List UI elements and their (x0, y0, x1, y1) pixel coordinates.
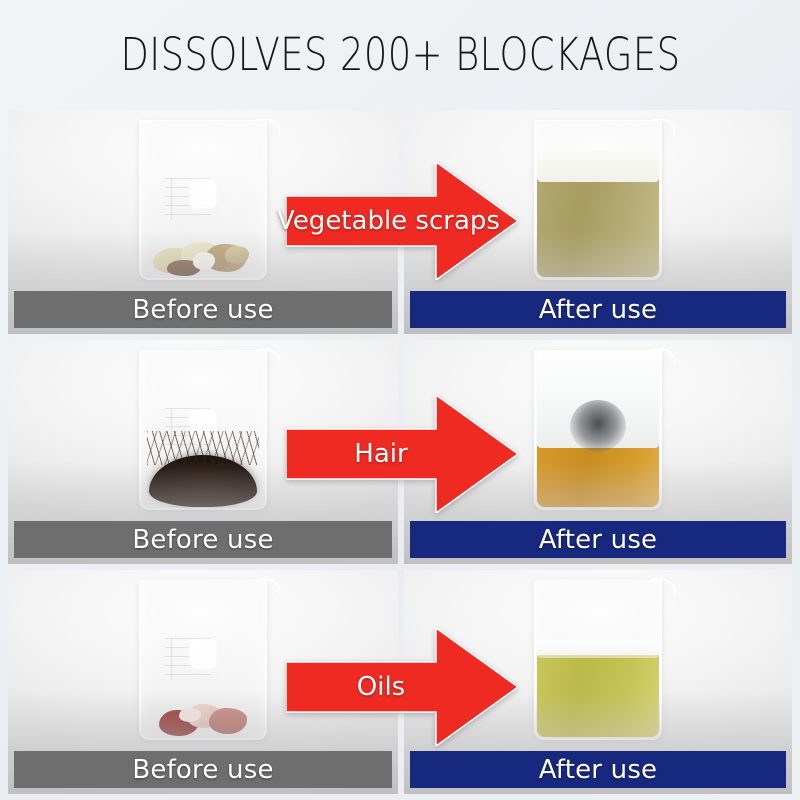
after-caption: After use (410, 291, 786, 328)
liquid-fill (537, 445, 659, 507)
vegetable-scraps-contents (147, 230, 259, 276)
comparison-row: Before use After use Oils (0, 570, 800, 794)
comparison-row: Before use After use Hair (0, 340, 800, 564)
after-caption: After use (410, 521, 786, 558)
page-title-area: DISSOLVES 200+ BLOCKAGES (0, 0, 800, 108)
transition-arrow: Oils (286, 628, 518, 746)
foam-layer (537, 150, 659, 182)
beaker-icon (139, 350, 267, 510)
infographic-canvas: DISSOLVES 200+ BLOCKAGES (0, 0, 800, 800)
beaker-icon (534, 350, 662, 510)
before-caption: Before use (14, 291, 392, 328)
transition-arrow: Hair (286, 395, 518, 513)
beaker-icon (139, 120, 267, 280)
liquid-fill (537, 655, 659, 737)
liquid-fill (537, 179, 659, 277)
beaker-icon (139, 580, 267, 740)
hair-contents (149, 455, 257, 507)
before-caption: Before use (14, 521, 392, 558)
before-caption: Before use (14, 751, 392, 788)
comparison-row: Before use After use Vegetable scraps (0, 110, 800, 334)
transition-arrow: Vegetable scraps (286, 162, 518, 280)
beaker-icon (534, 120, 662, 280)
page-title: DISSOLVES 200+ BLOCKAGES (120, 28, 680, 81)
foam-layer (537, 640, 659, 658)
meat-contents (157, 696, 249, 736)
dissolved-particles (570, 400, 626, 452)
after-caption: After use (410, 751, 786, 788)
beaker-icon (534, 580, 662, 740)
